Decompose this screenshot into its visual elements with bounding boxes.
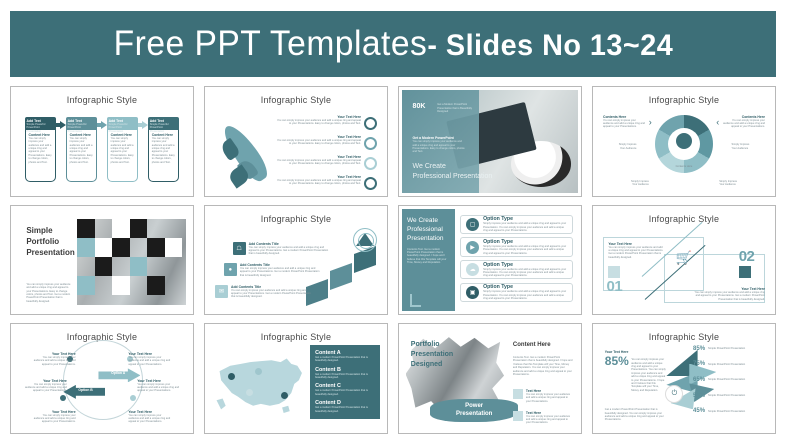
donut-center-label-wrap: Contents Here — [664, 154, 704, 172]
content-item: Content C Get a modern PowerPoint Presen… — [315, 383, 375, 396]
map-pin-icon[interactable] — [281, 392, 288, 402]
callout-text: You can simply impress your audience and… — [137, 383, 179, 393]
photo-headline-line-2: Professional Presentation — [413, 172, 493, 182]
portfolio-heading-line-2: Portfolio — [26, 236, 74, 247]
content-panel: Content A Get a modern PowerPoint Presen… — [310, 345, 380, 419]
portfolio-heading-line-2: Presentation — [411, 350, 453, 360]
slide-thumbnail-12[interactable]: Infographic Style Your Text Here 85% You… — [592, 323, 776, 434]
left-text-a: You can simply impress your audience and… — [631, 358, 666, 392]
left-text: You can simply impress your audience and… — [631, 358, 666, 392]
row-text: You can simply impress your audience and… — [275, 119, 361, 126]
slide-thumbnail-4[interactable]: Infographic Style Contents Here Contents… — [592, 86, 776, 197]
portfolio-heading-line-1: Simple — [26, 225, 74, 236]
left-text-b: Get a modern PowerPoint Presentation tha… — [605, 408, 665, 422]
sub-item: Text Here You can simply impress your au… — [513, 411, 573, 425]
percent-value: 55 — [693, 393, 700, 399]
slide-title: Infographic Style — [14, 95, 190, 105]
callout: Your Text Here You can simply impress yo… — [128, 352, 170, 366]
callout-text: You can simply impress your audience and… — [128, 356, 170, 366]
percent-unit: % — [700, 393, 705, 399]
grid-icon — [739, 266, 751, 278]
content-text: Get a modern PowerPoint Presentation tha… — [315, 389, 375, 396]
spoke-block: Simply Impress Your Audience — [601, 143, 636, 150]
portfolio-heading-line-1: Portfolio — [411, 340, 453, 350]
ppt-template-preview-page: Free PPT Templates- Slides No 13~24 Info… — [0, 0, 786, 445]
slide-thumbnail-2[interactable]: Infographic Style Your Text Here You can… — [204, 86, 388, 197]
step-card-row: Add Text Simple Powerful PowerPoint Pres… — [25, 117, 180, 185]
spoke-block: Simply Impress Your Audience — [719, 180, 754, 187]
percent-value: 85 — [693, 346, 700, 352]
option-text: Simply impress your audience and add a u… — [483, 245, 567, 255]
spoke-sub: Your Audience — [719, 183, 754, 186]
sub-item: Text Here You can simply impress your au… — [513, 389, 573, 403]
option-text: Simply impress your audience and add a u… — [483, 290, 567, 300]
arrow-right-icon — [138, 121, 147, 129]
rocket-text-row: Your Text Here You can simply impress yo… — [275, 115, 377, 130]
panel-heading: We Create Professional Presentation — [407, 216, 450, 243]
arrow-right-icon — [97, 121, 106, 129]
chat-icon: ▶ — [466, 241, 479, 254]
block-text-left: Your Text Here You can simply impress yo… — [608, 242, 664, 260]
callout-text: You can simply impress your audience and… — [33, 356, 75, 366]
step-card-header: Add Text Simple Powerful PowerPoint Pres… — [25, 117, 57, 130]
map-pin-icon[interactable] — [255, 368, 262, 378]
stat-label: Get a Modern PowerPoint Presentation tha… — [437, 103, 476, 113]
panel-text: Contents Text. Get a modern PowerPoint P… — [407, 248, 450, 265]
rocket-text-row: Your Text Here You can simply impress yo… — [275, 135, 377, 150]
block-number-02: 02 — [739, 248, 755, 265]
block-text: You can simply impress your audience and… — [608, 246, 664, 260]
header-banner: Free PPT Templates- Slides No 13~24 — [10, 11, 776, 77]
node-dot — [60, 395, 66, 401]
slide-thumbnail-5[interactable]: Simple Portfolio Presentation You can si… — [10, 205, 194, 316]
banner-title: Free PPT Templates- Slides No 13~24 — [113, 24, 673, 64]
content-text: Contents Text. Get a modern PowerPoint P… — [513, 356, 573, 376]
portfolio-heading-line-3: Presentation — [26, 247, 74, 258]
step-item[interactable]: ☖ Add Contents Title You can simply impr… — [233, 242, 332, 256]
percent-row: 55% Simple PowerPoint Presentation — [691, 393, 768, 399]
map-pin-icon[interactable] — [228, 373, 235, 383]
content-title: Content Here — [513, 342, 573, 348]
percent-rows: 85% Simple PowerPoint Presentation 75% S… — [691, 346, 768, 424]
step-card-body-text: You can simply impress your audience and… — [70, 137, 94, 164]
right-text: You can simply impress your audience and… — [721, 119, 765, 129]
bullet-ring-icon — [364, 137, 377, 150]
percent-unit: % — [700, 361, 705, 367]
percent-value: 65 — [693, 377, 700, 383]
slide-thumbnail-11[interactable]: Portfolio Presentation Designed Power Pr… — [398, 323, 582, 434]
callout: Your Text Here You can simply impress yo… — [33, 352, 75, 366]
panel-heading-line-3: Presentation — [407, 234, 450, 243]
percent-label: Simple PowerPoint Presentation — [708, 378, 745, 381]
percent-unit: % — [700, 408, 705, 414]
banner-title-main: Free PPT Templates — [113, 24, 427, 63]
content-item: Content A Get a modern PowerPoint Presen… — [315, 350, 375, 363]
slide-grid: Infographic Style Add Text Simple Powerf… — [10, 86, 776, 434]
step-item[interactable]: ✉ Add Contents Title You can simply impr… — [215, 285, 314, 299]
spoke-block: Simply Impress Your Audience — [732, 143, 767, 150]
chat-icon: ● — [224, 263, 237, 276]
stat-value: 80K — [413, 103, 426, 110]
block-number-01: 01 — [607, 278, 623, 295]
left-heading-block: Contents Here You can simply impress you… — [603, 115, 647, 129]
spoke-block: Simply Impress Your Audience — [614, 180, 649, 187]
block-text: You can simply impress your audience and… — [691, 291, 765, 301]
option-row[interactable]: ▢ Option Type Simply impress your audien… — [460, 215, 573, 235]
chevron-left-icon: ‹ — [716, 117, 719, 127]
option-row[interactable]: ▣ Option Type Simply impress your audien… — [460, 283, 573, 303]
donut-center-label: Contents Here — [676, 165, 693, 168]
callout: Your Text Here You can simply impress yo… — [25, 379, 67, 393]
brush-label-line-1: Power — [465, 403, 483, 409]
content-item: Content B Get a modern PowerPoint Presen… — [315, 367, 375, 380]
bullet-ring-icon — [364, 157, 377, 170]
photo-headline-line-1: We Create — [413, 162, 493, 172]
portfolio-body-text: You can simply impress your audience and… — [26, 283, 72, 303]
united-states-map — [215, 353, 307, 417]
slide-title: Infographic Style — [208, 332, 384, 342]
percent-unit: % — [700, 377, 705, 383]
step-card-body: Content Here You can simply impress your… — [25, 130, 57, 182]
left-big-stat: 85% — [605, 354, 629, 368]
sub-item-text: You can simply impress your audience and… — [526, 415, 573, 425]
right-heading-block: Contents Here You can simply impress you… — [721, 115, 765, 129]
step-card[interactable]: Add Text Simple Powerful PowerPoint Pres… — [107, 117, 139, 182]
bullet-ring-icon — [364, 177, 377, 190]
step-card-body-text: You can simply impress your audience and… — [111, 137, 135, 164]
slide-thumbnail-8[interactable]: Infographic Style 🛒 Your Text Here You c… — [592, 205, 776, 316]
photo-headline: We Create Professional Presentation — [413, 162, 493, 182]
arrow-right-icon — [56, 121, 65, 129]
option-text: Simply impress your audience and add a u… — [483, 222, 567, 232]
slide-thumbnail-9[interactable]: Infographic Style Option A Option B Your… — [10, 323, 194, 434]
spoke-sub: Your Audience — [614, 183, 649, 186]
step-card-header: Add Text Simple Powerful PowerPoint Pres… — [148, 117, 180, 130]
callout-text: You can simply impress your audience and… — [25, 383, 67, 393]
rocket-text-rows: Your Text Here You can simply impress yo… — [275, 115, 377, 193]
portfolio-photo-mosaic — [77, 219, 186, 305]
photo-body-block: Get a Modern PowerPoint You can simply i… — [413, 136, 466, 154]
cloud-icon: ☁ — [466, 263, 479, 276]
stat-label-block: Get a Modern PowerPoint Presentation tha… — [437, 103, 476, 113]
slide-title: Infographic Style — [596, 332, 772, 342]
map-pin-icon[interactable] — [246, 389, 253, 399]
rocket-text-row: Your Text Here You can simply impress yo… — [275, 175, 377, 190]
step-card-body: Content Here You can simply impress your… — [148, 130, 180, 182]
callout-text: You can simply impress your audience and… — [128, 414, 170, 424]
row-text: You can simply impress your audience and… — [275, 139, 361, 146]
spoke-sub: Your Audience — [732, 147, 767, 150]
callout: Your Text Here You can simply impress yo… — [128, 410, 170, 424]
slide-title: Infographic Style — [596, 95, 772, 105]
panel-heading-line-2: Professional — [407, 225, 450, 234]
arrow-right-label: Option A — [111, 371, 125, 375]
content-text: Get a modern PowerPoint Presentation tha… — [315, 356, 375, 363]
slide-thumbnail-6[interactable]: Infographic Style ☖ Add Contents Title Y… — [204, 205, 388, 316]
content-item: Content D Get a modern PowerPoint Presen… — [315, 400, 375, 413]
percent-label: Simple PowerPoint Presentation — [708, 410, 745, 413]
camera-icon: ▣ — [466, 286, 479, 299]
slide-thumbnail-7[interactable]: We Create Professional Presentation Cont… — [398, 205, 582, 316]
step-card[interactable]: Add Text Simple Powerful PowerPoint Pres… — [148, 117, 180, 182]
slide-title: Infographic Style — [208, 95, 384, 105]
callout: Your Text Here You can simply impress yo… — [33, 410, 75, 424]
percent-row: 45% Simple PowerPoint Presentation — [691, 408, 768, 414]
slide-thumbnail-1[interactable]: Infographic Style Add Text Simple Powerf… — [10, 86, 194, 197]
percent-unit: % — [700, 346, 705, 352]
callout: Your Text Here You can simply impress yo… — [137, 379, 179, 393]
shopping-cart-icon: 🛒 — [676, 250, 692, 266]
content-text: Get a modern PowerPoint Presentation tha… — [315, 406, 375, 413]
photo-body-text: You can simply impress your audience and… — [413, 140, 466, 154]
percent-row: 85% Simple PowerPoint Presentation — [691, 346, 768, 352]
brush-label-line-2: Presentation — [456, 411, 492, 417]
step-card[interactable]: Add Text Simple Powerful PowerPoint Pres… — [25, 117, 57, 182]
step-card[interactable]: Add Text Simple Powerful PowerPoint Pres… — [66, 117, 98, 182]
sub-item-text: You can simply impress your audience and… — [526, 393, 573, 403]
step-card-body: Content Here You can simply impress your… — [66, 130, 98, 182]
monitor-icon — [513, 411, 523, 421]
content-text-block: Contents Text. Get a modern PowerPoint P… — [513, 356, 573, 376]
brush-banner: Power Presentation — [430, 399, 518, 422]
corner-bracket-icon — [410, 294, 421, 307]
monitor-icon — [608, 266, 620, 278]
portfolio-heading: Simple Portfolio Presentation — [26, 225, 74, 258]
content-text: Get a modern PowerPoint Presentation tha… — [315, 373, 375, 380]
banner-title-sub: - Slides No 13~24 — [427, 29, 673, 62]
block-text-right: Your Text Here You can simply impress yo… — [691, 287, 765, 301]
step-card-header: Add Text Simple Powerful PowerPoint Pres… — [107, 117, 139, 130]
option-row[interactable]: ▶ Option Type Simply impress your audien… — [460, 237, 573, 257]
step-card-header: Add Text Simple Powerful PowerPoint Pres… — [66, 117, 98, 130]
step-card-body: Content Here You can simply impress your… — [107, 130, 139, 182]
slide-thumbnail-10[interactable]: Infographic Style — [204, 323, 388, 434]
portfolio-heading-line-3: Designed — [411, 360, 453, 370]
slide-thumbnail-3[interactable]: 80K Get a Modern PowerPoint Presentation… — [398, 86, 582, 197]
step-item[interactable]: ● Add Contents Title You can simply impr… — [224, 263, 323, 277]
home-icon: ☖ — [233, 242, 246, 255]
step-item-text: You can simply impress your audience and… — [231, 289, 314, 299]
option-text: Simply impress your audience and add a u… — [483, 268, 567, 278]
callout-text: You can simply impress your audience and… — [33, 414, 75, 424]
percent-row: 65% Simple PowerPoint Presentation — [691, 377, 768, 383]
slide-title: Infographic Style — [596, 214, 772, 224]
rocket-icon — [219, 121, 272, 185]
percent-label: Simple PowerPoint Presentation — [708, 394, 745, 397]
left-panel: We Create Professional Presentation Cont… — [402, 209, 455, 312]
percent-label: Simple PowerPoint Presentation — [708, 363, 745, 366]
mail-icon: ✉ — [215, 285, 228, 298]
row-text: You can simply impress your audience and… — [275, 179, 361, 186]
chevron-right-icon: › — [649, 117, 652, 127]
portfolio-body-block: You can simply impress your audience and… — [26, 283, 72, 303]
percent-row: 75% Simple PowerPoint Presentation — [691, 361, 768, 367]
row-text: You can simply impress your audience and… — [275, 159, 361, 166]
spoke-sub: Your Audience — [601, 147, 636, 150]
monitor-icon — [513, 389, 523, 399]
percent-value: 75 — [693, 361, 700, 367]
step-card-body-text: You can simply impress your audience and… — [29, 137, 53, 164]
panel-heading-line-1: We Create — [407, 216, 450, 225]
left-text: You can simply impress your audience and… — [603, 119, 647, 129]
step-card-body-text: You can simply impress your audience and… — [152, 137, 176, 164]
bullet-ring-icon — [364, 117, 377, 130]
rocket-text-row: Your Text Here You can simply impress yo… — [275, 155, 377, 170]
percent-value: 45 — [693, 408, 700, 414]
option-row[interactable]: ☁ Option Type Simply impress your audien… — [460, 260, 573, 280]
slide-title: Infographic Style — [208, 214, 384, 224]
percent-label: Simple PowerPoint Presentation — [708, 347, 745, 350]
step-item-text: You can simply impress your audience and… — [249, 246, 332, 256]
portfolio-heading: Portfolio Presentation Designed — [411, 340, 453, 370]
step-item-text: You can simply impress your audience and… — [240, 267, 323, 277]
arrow-left-label: Option B — [78, 388, 92, 392]
left-text2: Get a modern PowerPoint Presentation tha… — [605, 408, 665, 422]
book-icon: ▢ — [466, 218, 479, 231]
ripple-inner-icon — [358, 233, 374, 249]
